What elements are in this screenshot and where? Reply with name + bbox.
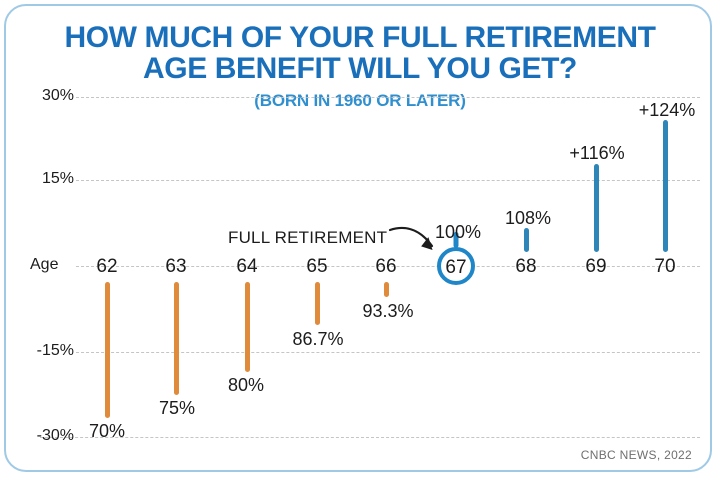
bar-70 xyxy=(663,120,668,252)
ytick-label-neg15: -15% xyxy=(12,342,74,360)
age-label-66: 66 xyxy=(375,256,396,278)
bar-63 xyxy=(174,282,179,395)
gridline-neg15 xyxy=(76,352,700,353)
full-retirement-annotation-label: FULL RETIREMENT xyxy=(228,228,387,248)
gridline-15 xyxy=(76,180,700,181)
value-label-66: 93.3% xyxy=(362,301,413,322)
infographic-screenshot: HOW MUCH OF YOUR FULL RETIREMENT AGE BEN… xyxy=(0,0,720,480)
age-label-68: 68 xyxy=(515,256,536,278)
bar-66 xyxy=(384,282,389,297)
value-label-65: 86.7% xyxy=(292,329,343,350)
ytick-label-30: 30% xyxy=(18,87,74,105)
bar-64 xyxy=(245,282,250,372)
axis-name-age: Age xyxy=(30,256,58,274)
source-credit: CNBC NEWS, 2022 xyxy=(581,448,692,462)
age-label-65: 65 xyxy=(306,256,327,278)
value-label-70: +124% xyxy=(639,100,696,121)
bar-62 xyxy=(105,282,110,418)
value-label-64: 80% xyxy=(228,375,264,396)
bar-69 xyxy=(594,164,599,252)
annotation-arrow-icon xyxy=(388,222,448,258)
age-label-64: 64 xyxy=(236,256,257,278)
gridline-30 xyxy=(76,97,700,98)
gridline-neg30 xyxy=(40,437,700,438)
value-label-69: +116% xyxy=(569,143,624,164)
value-label-63: 75% xyxy=(159,398,195,419)
age-label-70: 70 xyxy=(654,256,675,278)
ytick-label-neg30: -30% xyxy=(12,427,74,445)
bar-65 xyxy=(315,282,320,325)
ytick-label-15: 15% xyxy=(18,170,74,188)
bar-68 xyxy=(524,228,529,252)
value-label-68: 108% xyxy=(505,208,551,229)
age-label-63: 63 xyxy=(165,256,186,278)
age-label-69: 69 xyxy=(585,256,606,278)
chart-plot-area: 30% 15% Age -15% -30% 62 70% 63 75% 64 8… xyxy=(0,0,720,480)
age-label-62: 62 xyxy=(96,256,117,278)
value-label-62: 70% xyxy=(89,421,125,442)
age-label-67: 67 xyxy=(441,257,471,279)
